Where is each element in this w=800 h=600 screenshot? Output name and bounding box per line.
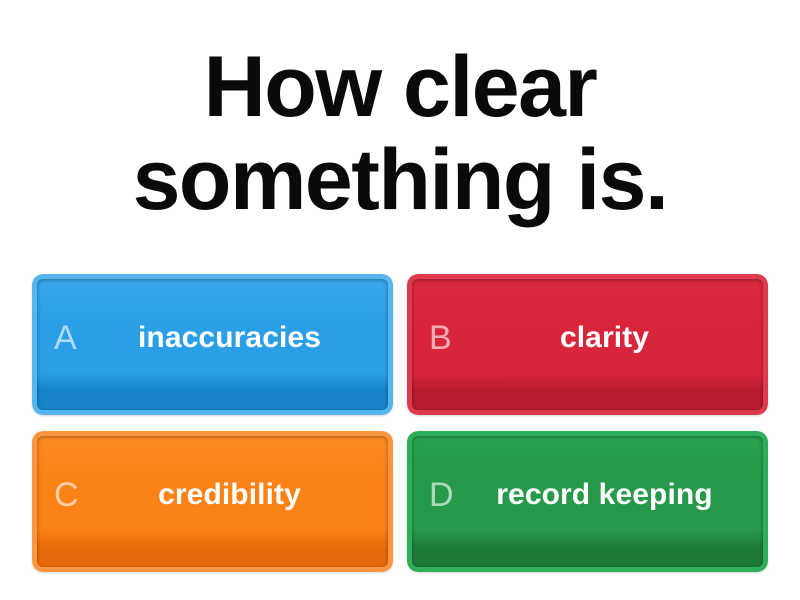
answer-option-b-label: clarity: [467, 321, 752, 355]
answer-option-b[interactable]: B clarity: [407, 274, 768, 415]
answer-option-d-letter: D: [423, 478, 467, 512]
answer-option-c-label: credibility: [92, 478, 377, 512]
answers-grid: A inaccuracies B clarity C credibility D…: [0, 268, 800, 600]
answer-option-a-letter: A: [48, 321, 92, 355]
answer-option-d-content: D record keeping: [407, 431, 768, 572]
question-text: How clear something is.: [28, 41, 772, 227]
question-area: How clear something is.: [0, 0, 800, 268]
answer-option-a-label: inaccuracies: [92, 321, 377, 355]
answer-option-b-letter: B: [423, 321, 467, 355]
answer-option-c-content: C credibility: [32, 431, 393, 572]
answer-option-d[interactable]: D record keeping: [407, 431, 768, 572]
answer-option-c[interactable]: C credibility: [32, 431, 393, 572]
answer-option-a-content: A inaccuracies: [32, 274, 393, 415]
answer-option-b-content: B clarity: [407, 274, 768, 415]
answer-option-c-letter: C: [48, 478, 92, 512]
answer-option-d-label: record keeping: [467, 478, 752, 512]
answer-option-a[interactable]: A inaccuracies: [32, 274, 393, 415]
